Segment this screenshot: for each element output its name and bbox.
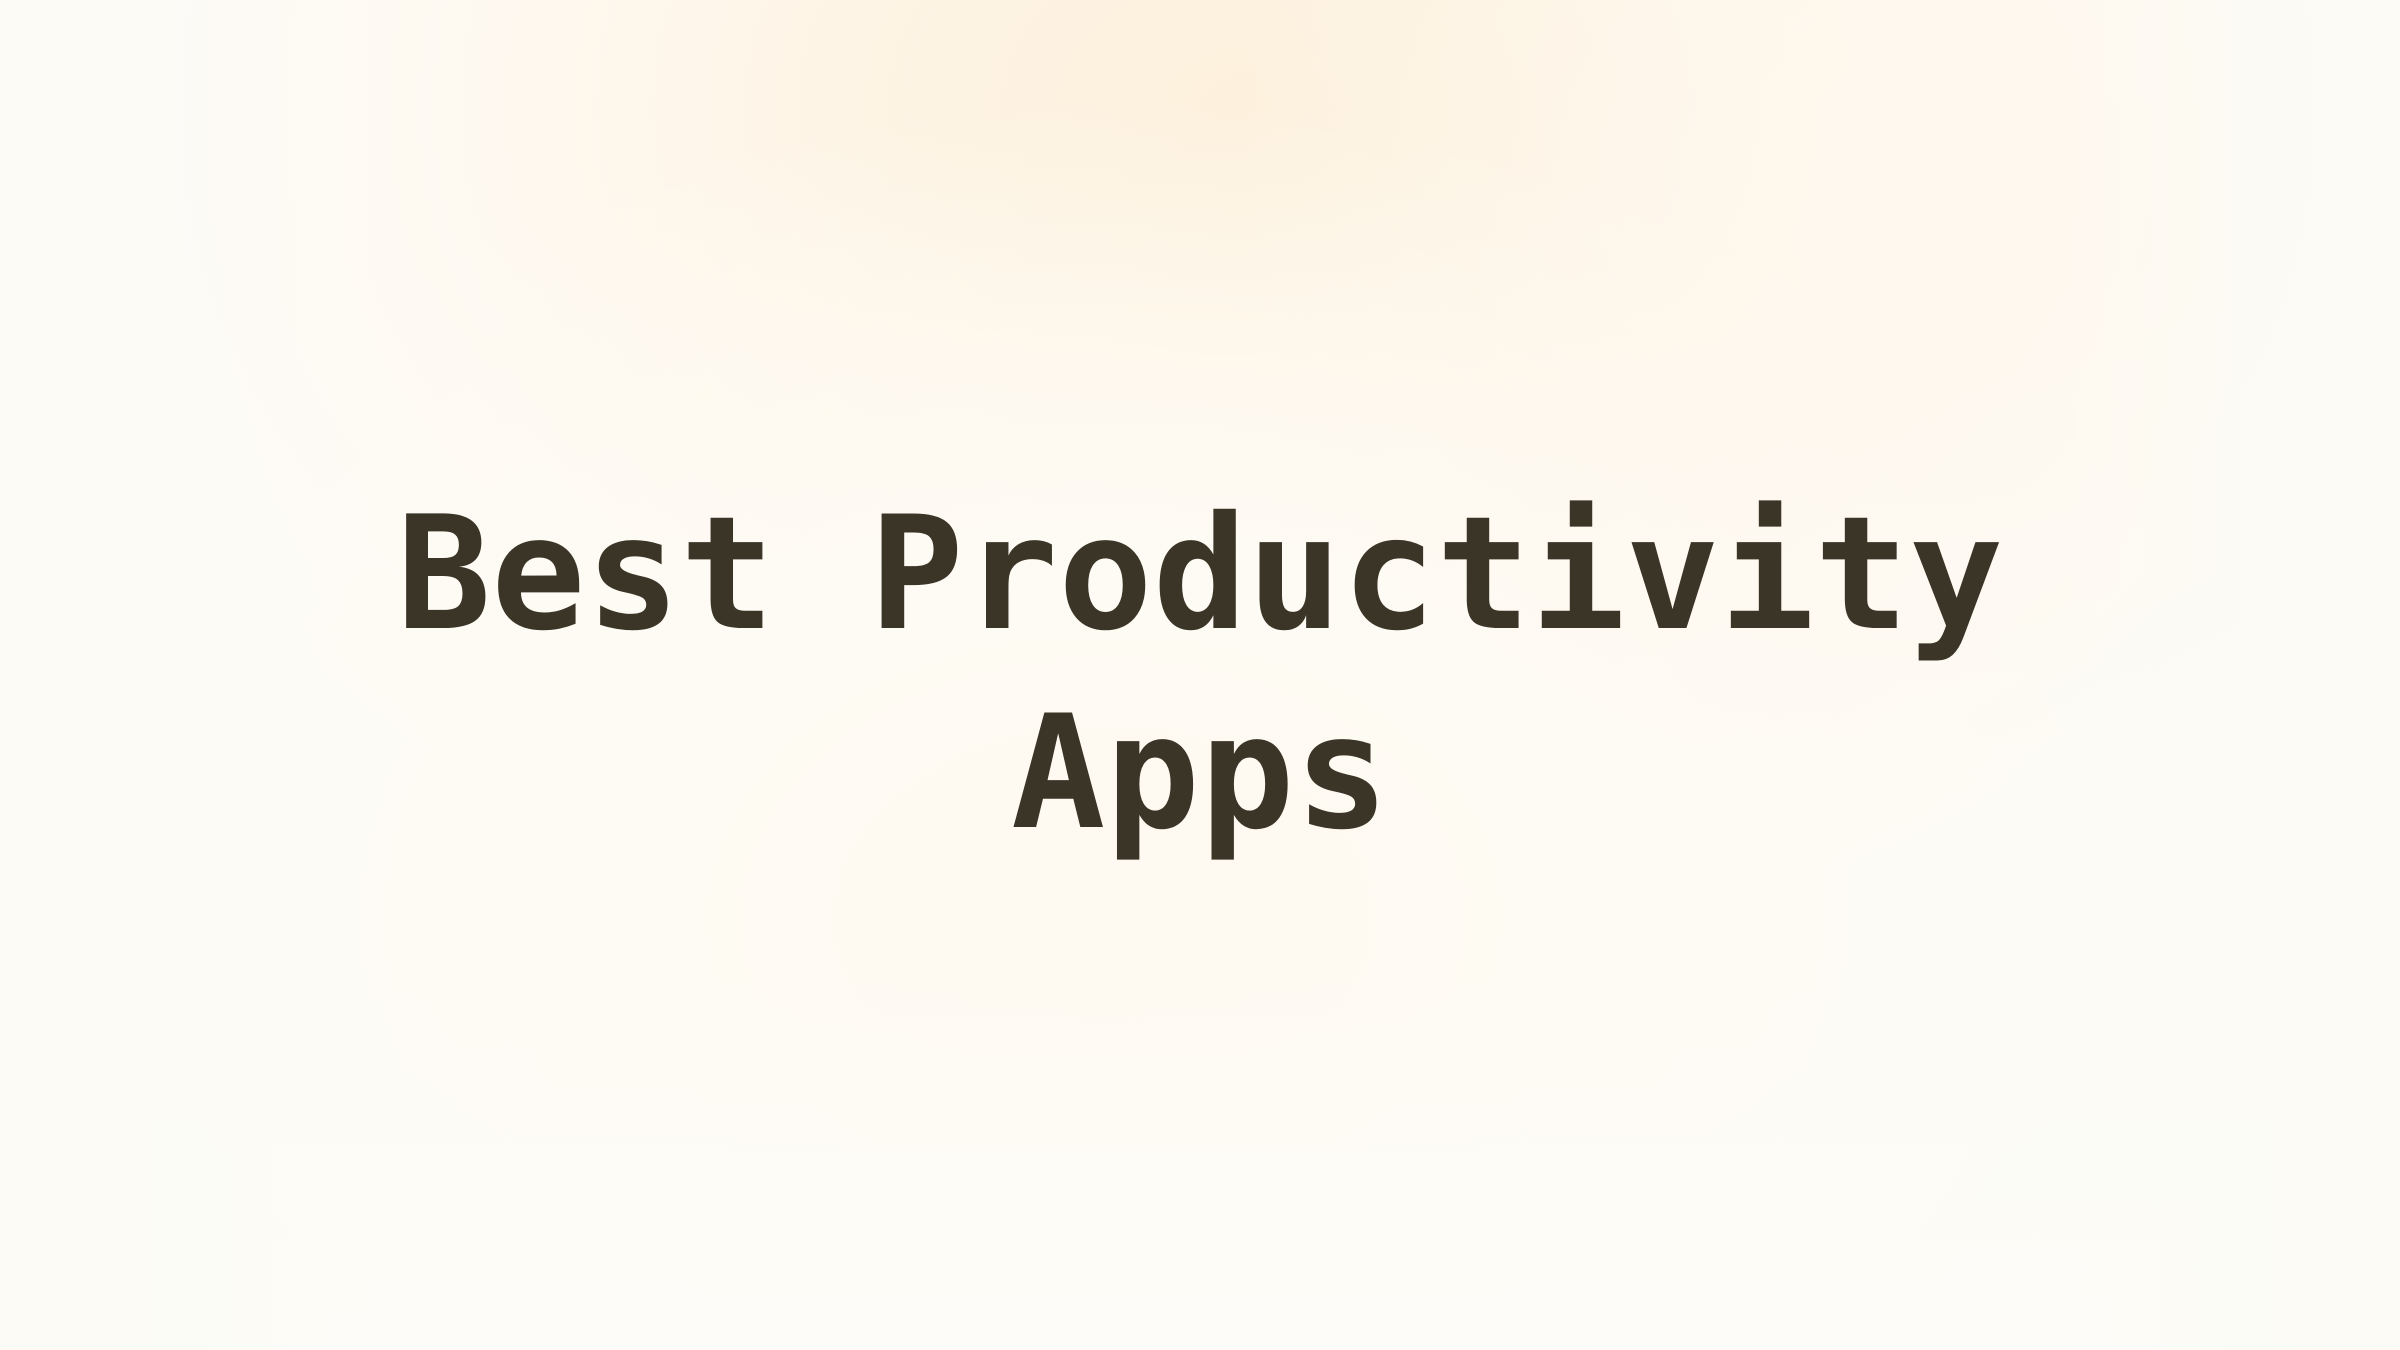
title-slide: Best Productivity Apps bbox=[0, 0, 2400, 1350]
title-line-2: Apps bbox=[1011, 673, 1389, 876]
title-line-1: Best Productivity bbox=[397, 474, 2004, 677]
title-block: Best Productivity Apps bbox=[0, 0, 2400, 1350]
